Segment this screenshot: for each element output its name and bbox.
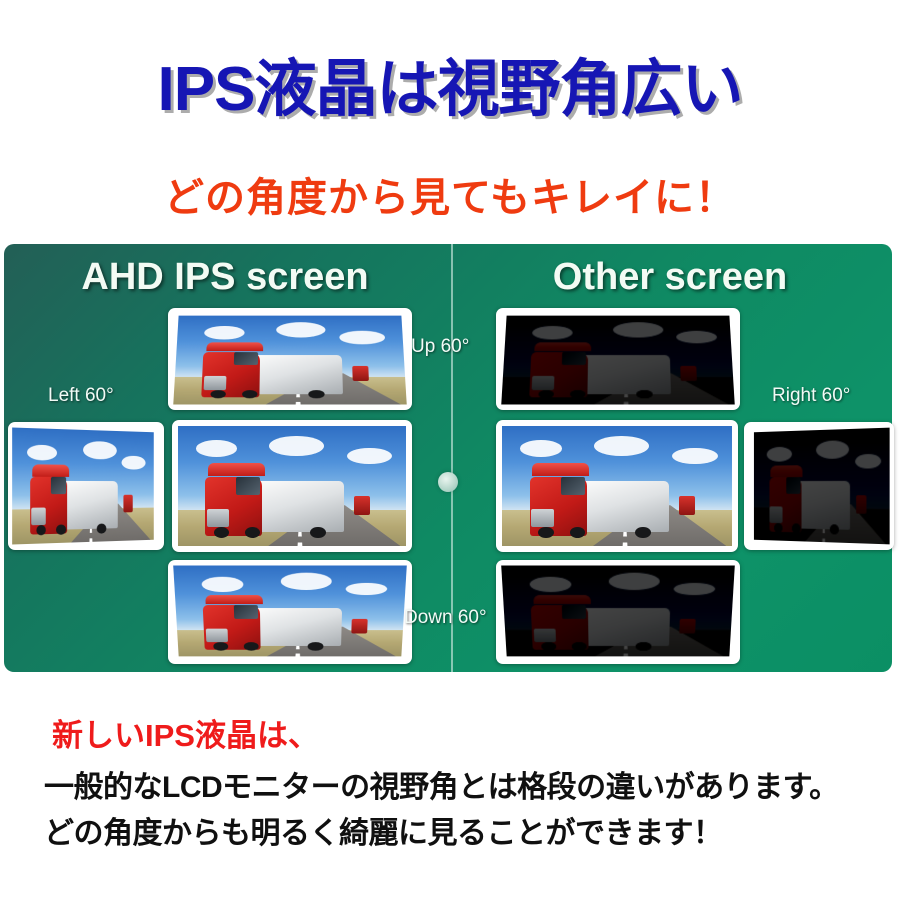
screen-card-other-up[interactable] [496,308,740,410]
footer-line-2: 一般的なLCDモニターの視野角とは格段の違いがあります。 [44,762,839,806]
truck-photo [754,428,890,545]
screen-card-other-center[interactable] [496,420,738,552]
footer-line-1: 新しいIPS液晶は、 [52,710,319,755]
truck-photo [502,426,732,546]
screen-image-other-down [496,560,740,664]
promo-page: IPS液晶は視野角広い どの角度から見てもキレイに！ AHD IPS scree… [0,0,900,900]
left-panel-heading: AHD IPS screen [30,256,420,299]
angle-label-left: Left 60° [48,385,114,407]
screen-image-other-center [496,420,738,552]
angle-label-right: Right 60° [772,385,850,407]
screen-card-ips-up[interactable] [168,308,412,410]
page-subtitle: どの角度から見てもキレイに！ [0,165,900,223]
truck-photo [173,316,406,405]
screen-image-ips-left [8,422,164,550]
screen-card-other-down[interactable] [496,560,740,664]
right-panel-heading: Other screen [470,256,870,299]
screen-image-other-right [744,422,894,550]
truck-photo [501,316,734,405]
angle-label-up: Up 60° [411,336,469,358]
truck-photo [173,565,407,656]
screen-image-ips-down [168,560,412,664]
screen-image-ips-up [168,308,412,410]
truck-photo [178,426,406,546]
screen-image-other-up [496,308,740,410]
screen-image-ips-center [172,420,412,552]
truck-photo [12,427,154,544]
divider-center-dot [438,472,458,492]
screen-card-ips-center[interactable] [172,420,412,552]
truck-photo [501,565,735,656]
footer-line-3: どの角度からも明るく綺麗に見ることができます！ [44,808,723,852]
angle-label-down: Down 60° [404,607,487,629]
screen-card-ips-left[interactable] [8,422,164,550]
screen-card-ips-down[interactable] [168,560,412,664]
screen-card-other-right[interactable] [744,422,894,550]
page-title: IPS液晶は視野角広い [0,38,900,128]
